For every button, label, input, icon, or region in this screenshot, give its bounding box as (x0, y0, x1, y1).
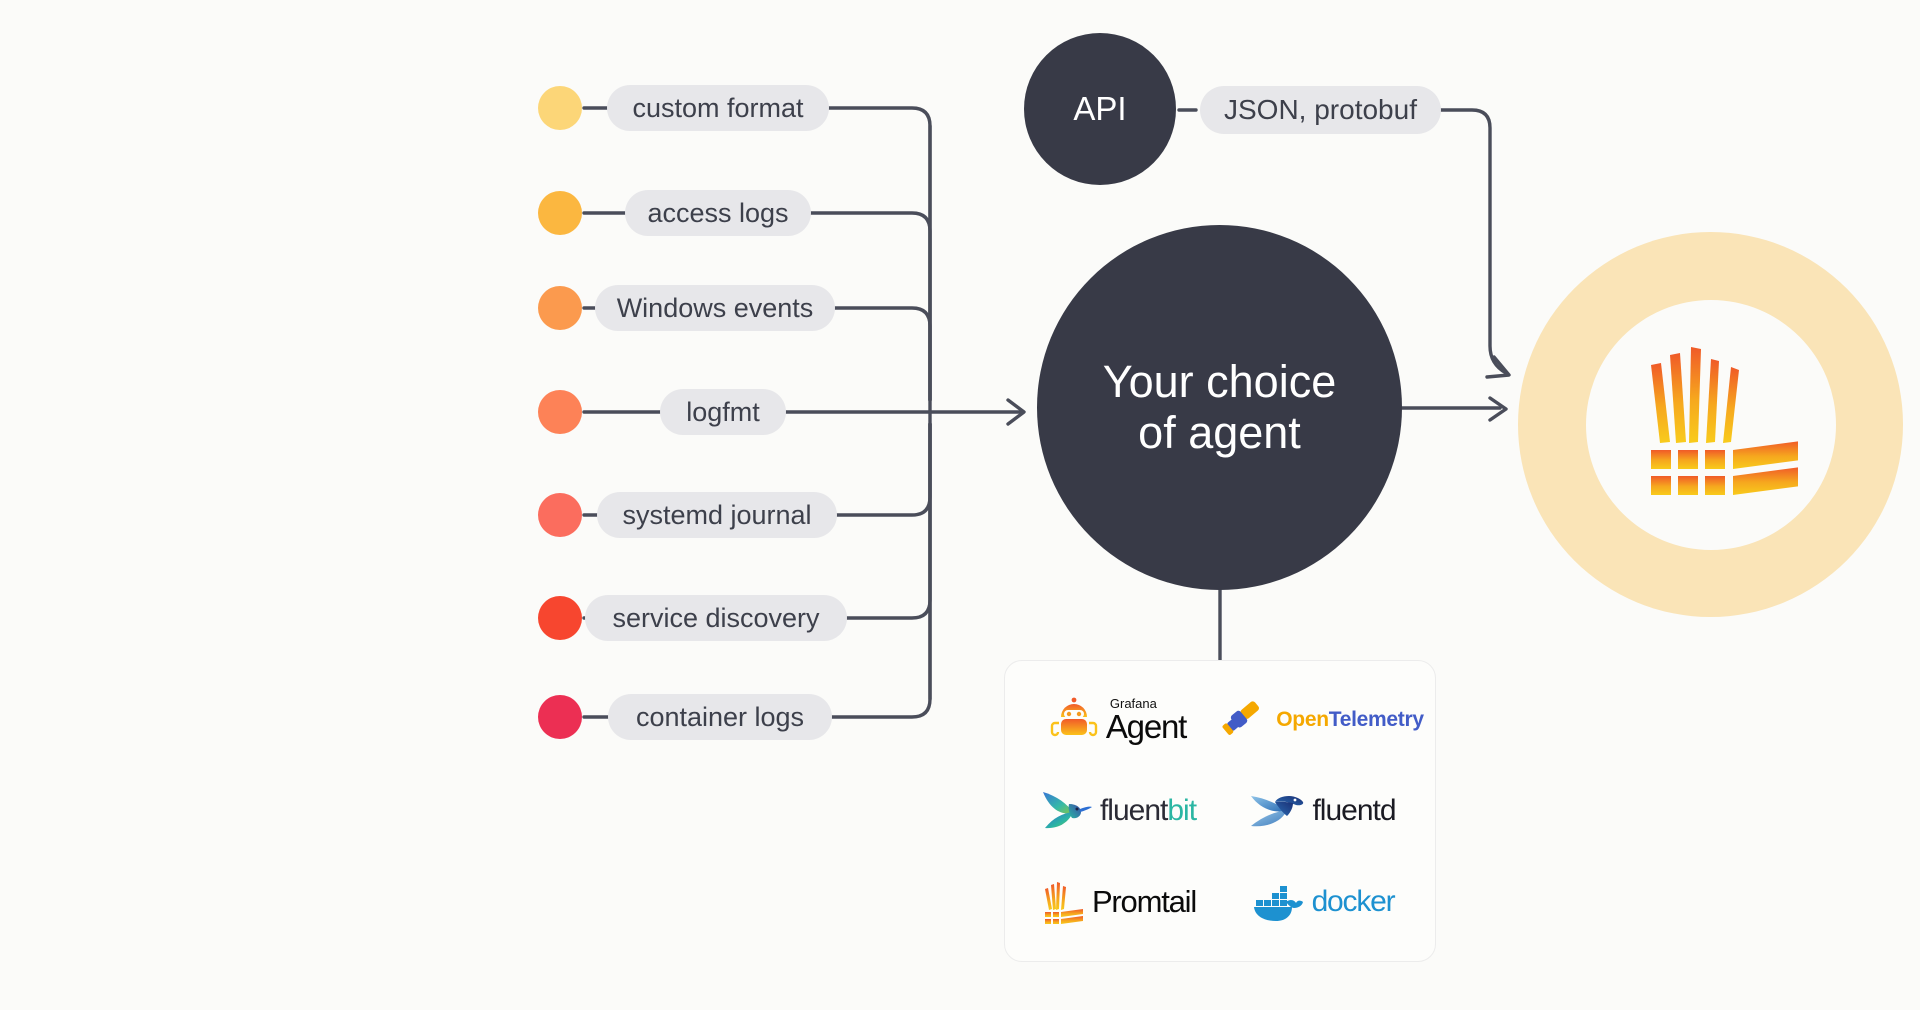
source-format-pill: systemd journal (597, 492, 837, 538)
promtail-wordmark: Promtail (1092, 884, 1196, 920)
agent-options-card: Grafana Agent OpenTelemetry (1004, 660, 1436, 962)
wire-docker (832, 424, 930, 717)
wire-linux (837, 424, 930, 515)
promtail-icon (1039, 879, 1085, 925)
agent-option-fluentbit[interactable]: fluentbit (1015, 766, 1220, 857)
api-node: API (1024, 33, 1176, 185)
fluentbit-icon (1039, 786, 1093, 836)
opentelemetry-brand-suffix: Telemetry (1329, 708, 1424, 731)
opentelemetry-wordmark: OpenTelemetry (1276, 708, 1423, 732)
source-format-pill: Windows events (595, 285, 835, 331)
api-node-label: API (1073, 90, 1126, 128)
grafana-agent-wordmark: Grafana Agent (1106, 697, 1186, 743)
source-format-pill: service discovery (585, 595, 847, 641)
fluentbit-brand-suffix: bit (1167, 794, 1196, 827)
source-dot (538, 191, 582, 235)
source-dot (538, 596, 582, 640)
source-dot (538, 286, 582, 330)
api-format-pill: JSON, protobuf (1200, 86, 1441, 134)
source-dot (538, 695, 582, 739)
source-dot (538, 493, 582, 537)
agent-option-fluentd[interactable]: fluentd (1220, 766, 1425, 857)
wire-iis (835, 308, 930, 400)
arrowhead-into-agent (1008, 400, 1024, 424)
wire-kubernetes (847, 424, 930, 618)
loki-icon (1623, 337, 1798, 512)
source-dot (538, 86, 582, 130)
arrowhead-api-into-loki (1487, 357, 1509, 377)
opentelemetry-brand-prefix: Open (1276, 708, 1328, 731)
diagram-canvas: 10 year old legacy app custom format ngi… (0, 0, 1920, 1010)
agent-choice-node: Your choice of agent (1037, 225, 1402, 590)
agent-option-docker[interactable]: docker (1220, 856, 1425, 947)
source-format-pill: container logs (608, 694, 832, 740)
fluentbit-wordmark: fluentbit (1100, 794, 1196, 828)
grafana-agent-brand-main: Agent (1106, 710, 1186, 743)
fluentd-wordmark: fluentd (1312, 794, 1395, 828)
wire-legacy (829, 108, 930, 400)
loki-destination-ring (1518, 232, 1903, 617)
grafana-agent-icon (1049, 695, 1099, 745)
source-format-pill: access logs (625, 190, 811, 236)
source-format-pill: custom format (607, 85, 829, 131)
agent-choice-line-1: Your choice (1103, 357, 1337, 407)
agent-option-grafana-agent[interactable]: Grafana Agent (1015, 675, 1220, 766)
agent-choice-line-2: of agent (1138, 408, 1301, 458)
source-dot (538, 390, 582, 434)
fluentbit-brand-prefix: fluent (1100, 794, 1167, 827)
opentelemetry-icon (1221, 696, 1269, 744)
agent-option-promtail[interactable]: Promtail (1015, 856, 1220, 947)
loki-destination-inner (1586, 300, 1836, 550)
docker-icon (1251, 880, 1305, 924)
source-format-pill: logfmt (660, 389, 786, 435)
agent-option-opentelemetry[interactable]: OpenTelemetry (1220, 675, 1425, 766)
wire-api-to-loki (1432, 110, 1506, 373)
fluentd-icon (1249, 786, 1305, 836)
arrowhead-into-loki (1490, 398, 1506, 420)
docker-wordmark: docker (1312, 885, 1395, 919)
